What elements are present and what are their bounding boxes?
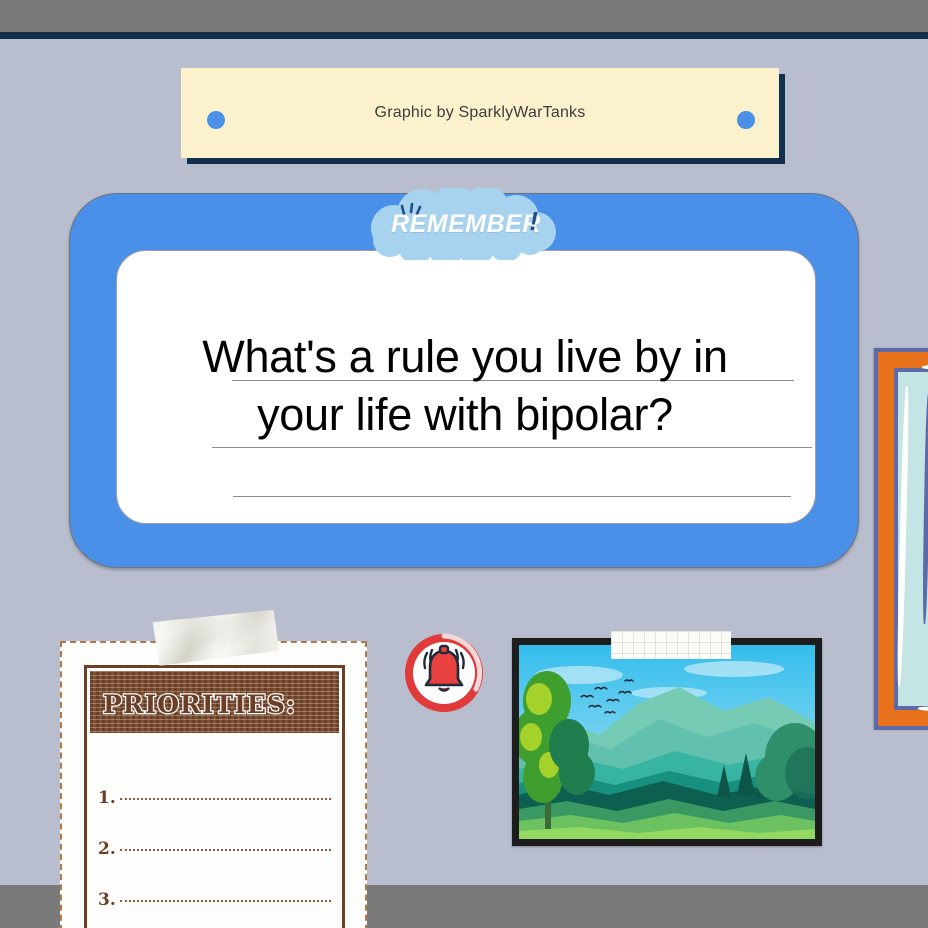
landscape-photo-frame bbox=[512, 638, 822, 846]
priorities-notepad: PRIORITIES: 1. 2. 3. 4. bbox=[60, 641, 367, 928]
ceiling-trim bbox=[0, 32, 928, 39]
alarm-bell-icon bbox=[402, 631, 486, 715]
list-item-number: 3. bbox=[98, 890, 116, 910]
ruled-line-middle bbox=[212, 447, 812, 448]
frame-highlight bbox=[918, 706, 928, 713]
notepad-title: PRIORITIES: bbox=[103, 690, 296, 719]
list-item-dotted-line bbox=[120, 900, 331, 902]
ruled-line-bottom bbox=[233, 496, 791, 497]
list-item-number: 2. bbox=[98, 839, 116, 859]
alarm-bell-badge bbox=[402, 631, 486, 715]
question-line-2: your life with bipolar? bbox=[70, 386, 860, 444]
question-text: What's a rule you live by in your life w… bbox=[70, 328, 860, 444]
list-item-number: 1. bbox=[98, 788, 116, 808]
question-line-1: What's a rule you live by in bbox=[70, 328, 860, 386]
notepad-header: PRIORITIES: bbox=[87, 668, 342, 736]
landscape-photo-canvas bbox=[519, 645, 815, 839]
glass-streak bbox=[922, 394, 928, 624]
washi-tape-icon bbox=[611, 631, 731, 659]
list-item-dotted-line bbox=[120, 798, 331, 800]
list-item: 3. bbox=[98, 890, 331, 910]
ceiling bbox=[0, 0, 928, 32]
remember-badge: REMEMBER ! bbox=[364, 188, 562, 260]
list-item: 2. bbox=[98, 839, 331, 859]
credit-banner: Graphic by SparklyWarTanks bbox=[181, 68, 779, 158]
notepad-list: 1. 2. 3. 4. bbox=[98, 788, 331, 928]
list-item: 1. bbox=[98, 788, 331, 808]
mountain-landscape-photo-icon bbox=[519, 645, 815, 839]
orange-window-frame bbox=[874, 348, 928, 730]
list-item-dotted-line bbox=[120, 849, 331, 851]
scene: Graphic by SparklyWarTanks What's a rule… bbox=[0, 0, 928, 928]
remember-badge-exclamation: ! bbox=[529, 206, 538, 237]
credit-banner-text: Graphic by SparklyWarTanks bbox=[181, 68, 779, 158]
